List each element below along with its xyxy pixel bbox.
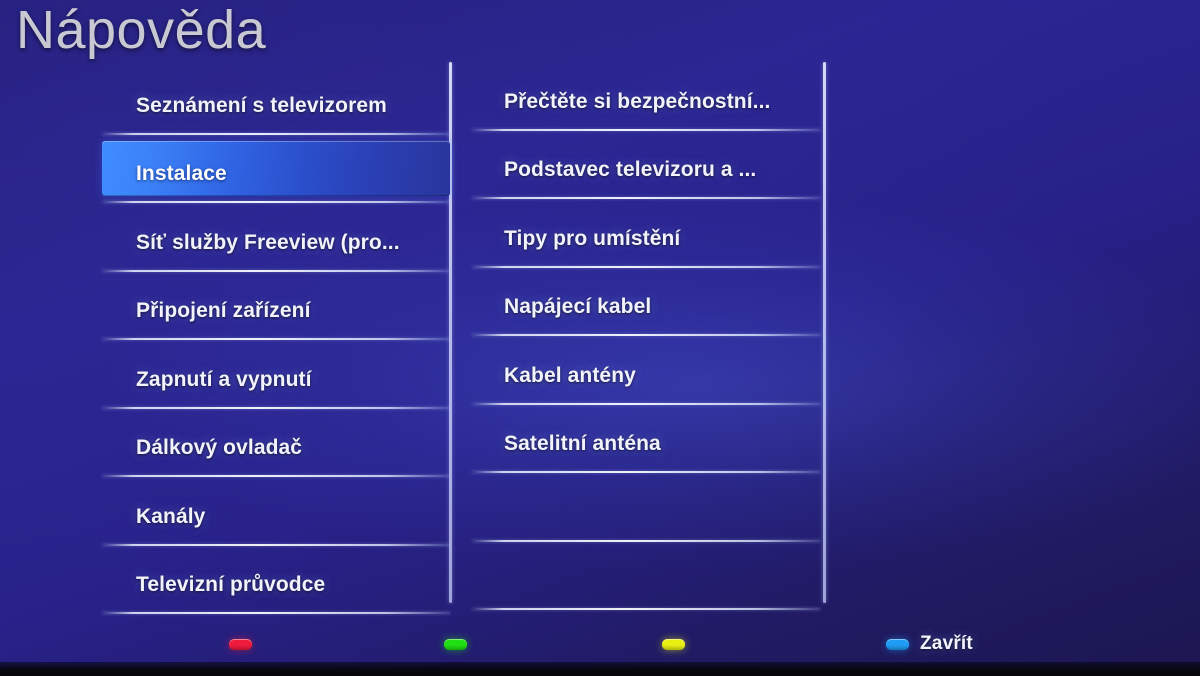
tv-help-screen: Nápověda Seznámení s televizoremInstalac…	[0, 0, 1200, 676]
menu-left-item-7[interactable]: Televizní průvodce	[102, 546, 450, 615]
close-label: Zavřít	[920, 633, 973, 655]
menu-left-item-5[interactable]: Dálkový ovladač	[102, 409, 450, 478]
red-button-icon	[229, 639, 252, 650]
menu-right-label-5: Satelitní anténa	[504, 432, 661, 456]
menu-right-item-0[interactable]: Přečtěte si bezpečnostní...	[472, 62, 820, 131]
menu-left-label-5: Dálkový ovladač	[136, 436, 302, 460]
color-key-green[interactable]	[444, 630, 478, 658]
menu-left-label-7: Televizní průvodce	[136, 573, 325, 597]
yellow-button-icon	[662, 639, 685, 650]
column-divider-right	[823, 62, 826, 603]
menu-right-item-2[interactable]: Tipy pro umístění	[472, 199, 820, 268]
help-menu-left-column: Seznámení s televizoremInstalaceSíť služ…	[102, 66, 450, 614]
menu-left-label-6: Kanály	[136, 505, 205, 529]
help-menu-right-column: Přečtěte si bezpečnostní...Podstavec tel…	[472, 62, 820, 610]
menu-left-item-0[interactable]: Seznámení s televizorem	[102, 66, 450, 135]
menu-right-item-3[interactable]: Napájecí kabel	[472, 268, 820, 337]
menu-separator	[472, 608, 820, 610]
menu-right-label-2: Tipy pro umístění	[504, 227, 680, 251]
menu-left-item-2[interactable]: Síť služby Freeview (pro...	[102, 203, 450, 272]
menu-right-item-6	[472, 473, 820, 542]
menu-left-label-1: Instalace	[136, 162, 227, 186]
menu-left-item-3[interactable]: Připojení zařízení	[102, 272, 450, 341]
page-title: Nápověda	[16, 2, 266, 59]
menu-right-label-1: Podstavec televizoru a ...	[504, 158, 756, 182]
menu-right-item-5[interactable]: Satelitní anténa	[472, 405, 820, 474]
menu-left-label-4: Zapnutí a vypnutí	[136, 368, 312, 392]
menu-right-item-4[interactable]: Kabel antény	[472, 336, 820, 405]
color-key-yellow[interactable]	[662, 630, 696, 658]
color-key-red[interactable]	[229, 630, 263, 658]
menu-right-item-7	[472, 542, 820, 611]
menu-right-item-1[interactable]: Podstavec televizoru a ...	[472, 131, 820, 200]
menu-right-label-3: Napájecí kabel	[504, 295, 651, 319]
menu-left-label-2: Síť služby Freeview (pro...	[136, 231, 400, 255]
menu-right-label-0: Přečtěte si bezpečnostní...	[504, 90, 770, 114]
menu-left-label-3: Připojení zařízení	[136, 299, 311, 323]
menu-left-item-1[interactable]: Instalace	[102, 135, 450, 204]
color-key-blue-close[interactable]: Zavřít	[886, 630, 973, 658]
menu-separator	[102, 612, 450, 614]
menu-left-label-0: Seznámení s televizorem	[136, 94, 387, 118]
green-button-icon	[444, 639, 467, 650]
menu-left-item-6[interactable]: Kanály	[102, 477, 450, 546]
blue-button-icon	[886, 639, 909, 650]
screen-bottom-band	[0, 662, 1200, 676]
menu-left-item-4[interactable]: Zapnutí a vypnutí	[102, 340, 450, 409]
menu-right-label-4: Kabel antény	[504, 364, 636, 388]
color-key-bar: Zavřít	[0, 630, 1200, 658]
